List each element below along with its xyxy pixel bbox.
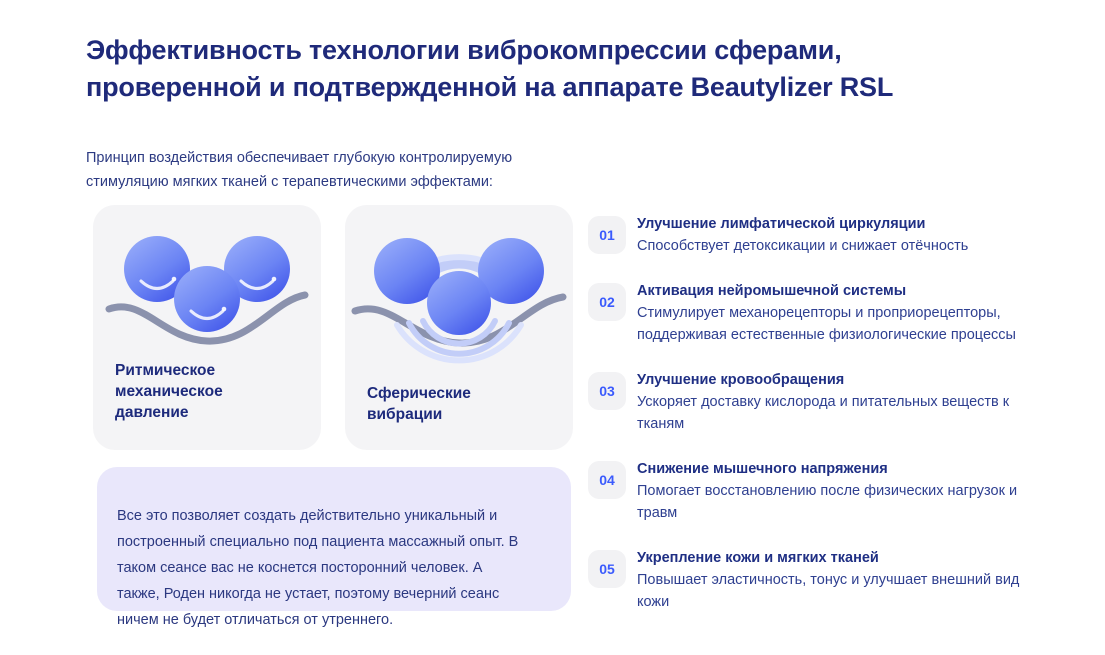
summary-note-line-4: также, Роден никогда не устает, поэтому … (117, 581, 557, 607)
feature-card-spherical-vibrations[interactable]: Сферические вибрации (345, 205, 573, 450)
page-root: Эффективность технологии виброкомпрессии… (0, 0, 1105, 655)
benefit-number-badge: 01 (588, 216, 626, 254)
intro-paragraph: Принцип воздействия обеспечивает глубоку… (86, 146, 606, 194)
list-item: 02 Активация нейромышечной системы Стиму… (588, 279, 1058, 346)
intro-line-2: стимуляцию мягких тканей с терапевтическ… (86, 170, 606, 194)
summary-note-line-5: ничем не будет отличаться от утреннего. (117, 607, 557, 633)
summary-note-line-3: таком сеансе вас не коснется посторонний… (117, 555, 557, 581)
benefit-title: Улучшение лимфатической циркуляции (637, 213, 1057, 235)
benefit-content: Улучшение кровообращения Ускоряет достав… (637, 368, 1057, 435)
page-title: Эффективность технологии виброкомпрессии… (86, 32, 1016, 106)
summary-note-line-1: Все это позволяет создать действительно … (117, 503, 557, 529)
benefit-description-line-1: Способствует детоксикации и снижает отёч… (637, 235, 1057, 257)
benefit-description-line-1: Ускоряет доставку кислорода и питательны… (637, 391, 1057, 413)
benefit-number-badge: 03 (588, 372, 626, 410)
summary-note-text: Все это позволяет создать действительно … (117, 503, 557, 633)
summary-note-line-2: построенный специально под пациента масс… (117, 529, 557, 555)
benefit-content: Укрепление кожи и мягких тканей Повышает… (637, 546, 1057, 613)
summary-note-box: Все это позволяет создать действительно … (97, 467, 571, 611)
benefit-title: Укрепление кожи и мягких тканей (637, 547, 1057, 569)
benefit-number-badge: 05 (588, 550, 626, 588)
page-title-line-1: Эффективность технологии виброкомпрессии… (86, 32, 1016, 69)
benefit-content: Улучшение лимфатической циркуляции Спосо… (637, 212, 1057, 257)
list-item: 05 Укрепление кожи и мягких тканей Повыш… (588, 546, 1058, 613)
intro-line-1: Принцип воздействия обеспечивает глубоку… (86, 146, 606, 170)
feature-card-title-line-1: Сферические (367, 383, 471, 404)
three-spheres-wave-icon (93, 213, 321, 383)
spheres-vibration-waves-icon (345, 213, 573, 383)
benefit-description-line-1: Повышает эластичность, тонус и улучшает … (637, 569, 1057, 591)
feature-card-title: Ритмическое механическое давление (115, 360, 223, 423)
benefit-description-line-2: травм (637, 502, 1057, 524)
list-item: 01 Улучшение лимфатической циркуляции Сп… (588, 212, 1058, 257)
benefit-title: Активация нейромышечной системы (637, 280, 1057, 302)
benefit-description-line-2: тканям (637, 413, 1057, 435)
list-item: 04 Снижение мышечного напряжения Помогае… (588, 457, 1058, 524)
benefit-number-badge: 02 (588, 283, 626, 321)
benefit-description-line-2: поддерживая естественные физиологические… (637, 324, 1057, 346)
feature-card-title: Сферические вибрации (367, 383, 471, 425)
page-title-line-2: проверенной и подтвержденной на аппарате… (86, 69, 1016, 106)
benefit-content: Активация нейромышечной системы Стимулир… (637, 279, 1057, 346)
feature-card-title-line-2: механическое (115, 381, 223, 402)
benefit-description-line-1: Стимулирует механорецепторы и проприорец… (637, 302, 1057, 324)
benefit-description-line-2: кожи (637, 591, 1057, 613)
list-item: 03 Улучшение кровообращения Ускоряет дос… (588, 368, 1058, 435)
feature-card-rhythmic-pressure[interactable]: Ритмическое механическое давление (93, 205, 321, 450)
benefit-title: Улучшение кровообращения (637, 369, 1057, 391)
benefit-title: Снижение мышечного напряжения (637, 458, 1057, 480)
benefits-list: 01 Улучшение лимфатической циркуляции Сп… (588, 212, 1058, 613)
feature-card-title-line-1: Ритмическое (115, 360, 223, 381)
feature-card-title-line-3: давление (115, 402, 223, 423)
feature-card-title-line-2: вибрации (367, 404, 471, 425)
benefit-content: Снижение мышечного напряжения Помогает в… (637, 457, 1057, 524)
benefit-description-line-1: Помогает восстановлению после физических… (637, 480, 1057, 502)
benefit-number-badge: 04 (588, 461, 626, 499)
